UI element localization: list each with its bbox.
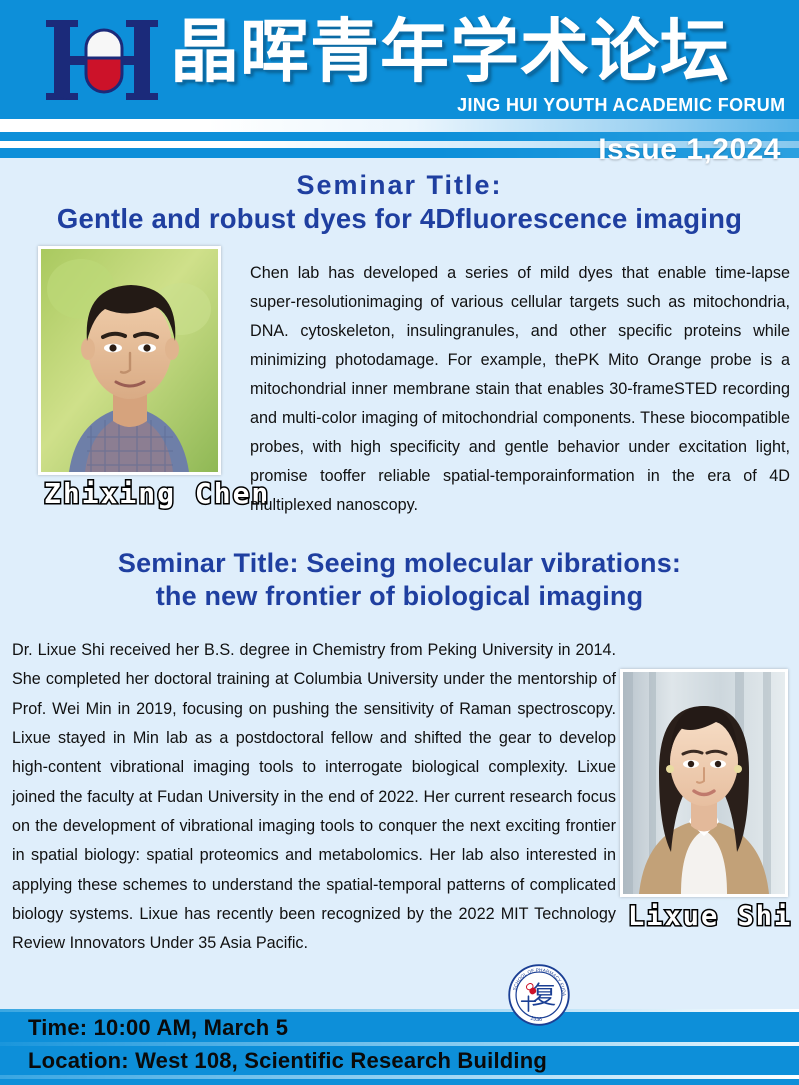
- speaker-2-portrait: [623, 672, 785, 894]
- footer-stripe-2: [0, 1042, 799, 1046]
- fudan-school-of-pharmacy-seal-icon: SCHOOL OF PHARMACY FUDAN UNIVERSITY 1936…: [508, 964, 570, 1026]
- seminar-title-2-line1: Seminar Title: Seeing molecular vibratio…: [0, 548, 799, 578]
- jh-capsule-logo-icon: [42, 12, 162, 108]
- speaker-2-photo-block: Lixue Shi: [620, 669, 788, 897]
- forum-chinese-title: 晶晖青年学术论坛: [170, 13, 730, 91]
- poster-footer: Time: 10:00 AM, March 5 Location: West 1…: [0, 1009, 799, 1085]
- talk-1-abstract: Chen lab has developed a series of mild …: [250, 259, 790, 520]
- event-location: Location: West 108, Scientific Research …: [28, 1048, 547, 1074]
- poster: 复 1936 晶晖青年学术论坛 JING HUI YOUTH ACADEMIC …: [0, 0, 799, 1085]
- forum-english-title: JING HUI YOUTH ACADEMIC FORUM: [457, 94, 785, 116]
- footer-stripe-1: [0, 1009, 799, 1012]
- seminar-title-1-line2: Gentle and robust dyes for 4Dfluorescenc…: [0, 204, 799, 235]
- seminar-title-2-line2: the new frontier of biological imaging: [0, 581, 799, 611]
- seminar-title-1-line1: Seminar Title:: [0, 170, 799, 200]
- talk-2-abstract: Dr. Lixue Shi received her B.S. degree i…: [12, 636, 616, 958]
- speaker-1-photo-block: Zhixing Chen: [38, 246, 221, 475]
- seminar-title-1: Seminar Title: Gentle and robust dyes fo…: [0, 170, 799, 235]
- footer-stripe-3: [0, 1075, 799, 1079]
- poster-header: 晶晖青年学术论坛 JING HUI YOUTH ACADEMIC FORUM: [0, 0, 799, 119]
- seminar-title-2: Seminar Title: Seeing molecular vibratio…: [0, 548, 799, 611]
- speaker-1-photo-frame: [38, 246, 221, 475]
- speaker-2-name: Lixue Shi: [628, 901, 792, 932]
- header-stripe-white-1: [0, 119, 799, 132]
- speaker-1-portrait: [41, 249, 218, 472]
- poster-body: Seminar Title: Gentle and robust dyes fo…: [0, 158, 799, 1009]
- speaker-1-name: Zhixing Chen: [44, 477, 270, 510]
- svg-text:复: 复: [532, 981, 557, 1010]
- issue-label: Issue 1,2024: [598, 133, 781, 167]
- event-time: Time: 10:00 AM, March 5: [28, 1015, 288, 1041]
- speaker-2-photo-frame: [620, 669, 788, 897]
